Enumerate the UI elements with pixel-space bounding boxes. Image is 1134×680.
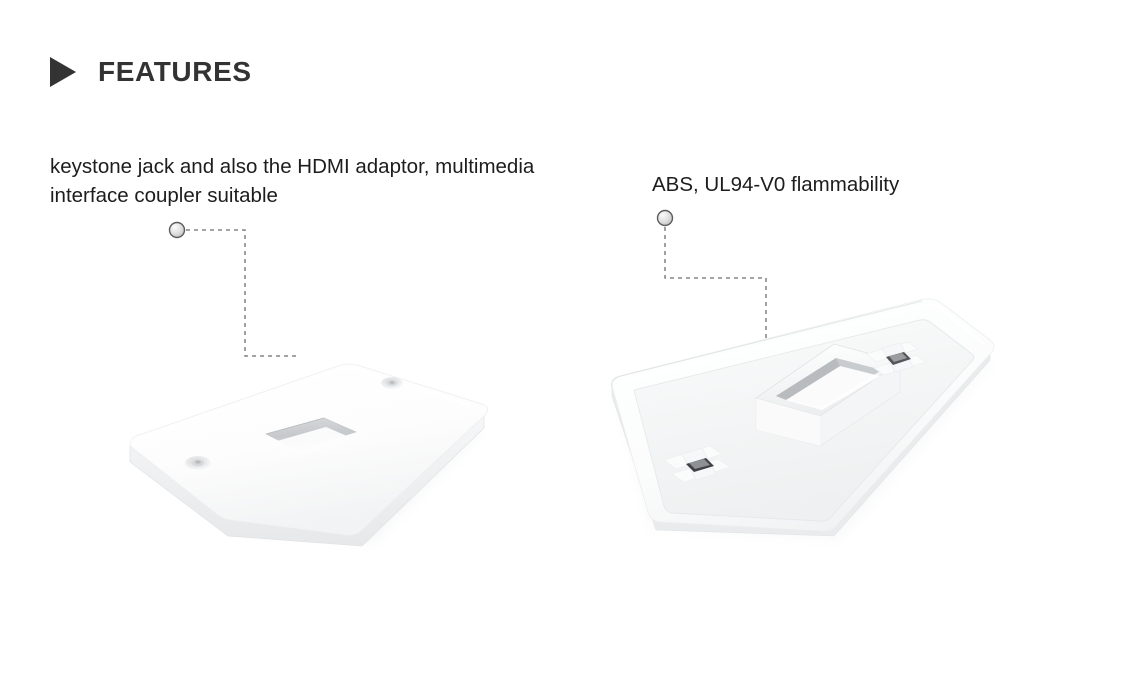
- callout-dot-icon-abs-material: [658, 211, 673, 226]
- screw-hole-lower-left: [185, 456, 211, 470]
- callout-dot-icon-keystone-jack: [170, 223, 185, 238]
- callout-label-keystone-jack: keystone jack and also the HDMI adaptor,…: [50, 152, 610, 210]
- callout-label-abs-material: ABS, UL94-V0 flammability: [652, 170, 1072, 199]
- section-header: FEATURES: [50, 48, 252, 96]
- screw-hole-upper-right: [381, 377, 403, 389]
- single-port-wall-plate-front-view: [110, 300, 510, 570]
- features-page: FEATURES keystone jack and also the HDMI…: [0, 0, 1134, 680]
- page-title: FEATURES: [98, 58, 252, 86]
- play-triangle-icon: [50, 57, 76, 87]
- single-port-wall-plate-back-view: [590, 278, 1010, 558]
